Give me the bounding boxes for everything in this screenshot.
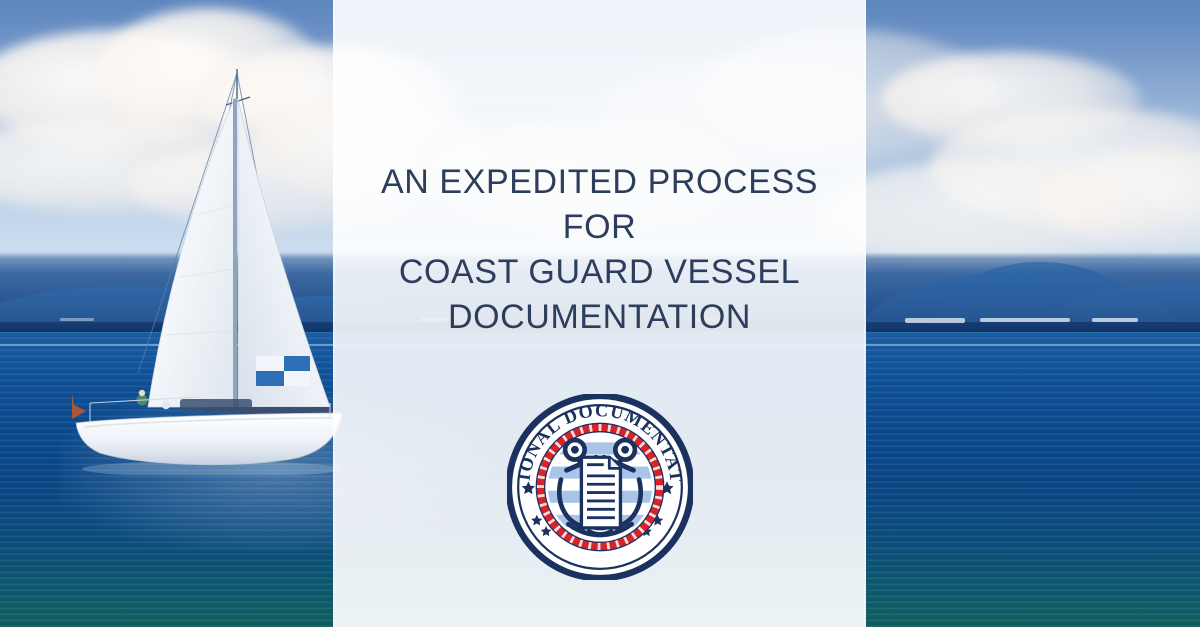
mast bbox=[233, 99, 237, 411]
sail-flag-insignia bbox=[256, 352, 312, 394]
logo[interactable]: NATIONAL DOCUMENTATION PORTAL bbox=[507, 394, 693, 580]
shore-buildings bbox=[1092, 318, 1138, 322]
cabin bbox=[180, 399, 252, 411]
jib-sail bbox=[148, 97, 235, 407]
hero-banner: AN EXPEDITED PROCESS FOR COAST GUARD VES… bbox=[0, 0, 1200, 627]
headline-line-2: COAST GUARD VESSEL bbox=[357, 250, 842, 295]
document-icon bbox=[581, 457, 620, 528]
content-panel: AN EXPEDITED PROCESS FOR COAST GUARD VES… bbox=[333, 0, 866, 627]
headline-line-1: AN EXPEDITED PROCESS FOR bbox=[357, 160, 842, 250]
shore-buildings bbox=[905, 318, 965, 323]
sailboat bbox=[30, 55, 350, 475]
stern-flag bbox=[72, 393, 86, 419]
page-title: AN EXPEDITED PROCESS FOR COAST GUARD VES… bbox=[333, 160, 866, 340]
shore-buildings bbox=[980, 318, 1070, 322]
hull-reflection bbox=[82, 461, 342, 475]
headline-line-3: DOCUMENTATION bbox=[357, 295, 842, 340]
crew-person bbox=[162, 401, 170, 409]
